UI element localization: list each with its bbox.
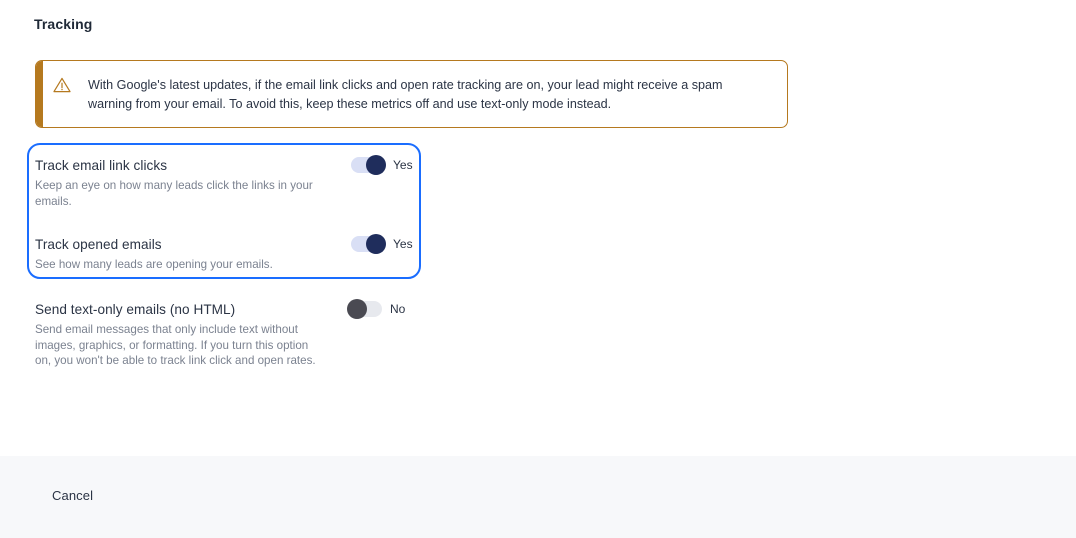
toggle-track-email-link-clicks[interactable]	[351, 157, 385, 173]
setting-track-opened-emails: Track opened emails See how many leads a…	[35, 235, 415, 273]
footer-bar: Cancel	[0, 456, 1076, 538]
toggle-value-label: Yes	[393, 236, 413, 252]
settings-page: Tracking With Google's latest updates, i…	[0, 0, 1076, 456]
setting-description: Keep an eye on how many leads click the …	[35, 178, 321, 209]
setting-track-email-link-clicks: Track email link clicks Keep an eye on h…	[35, 156, 415, 209]
toggle-track-opened-emails[interactable]	[351, 236, 385, 252]
warning-triangle-icon	[52, 75, 72, 95]
setting-control: No	[348, 301, 405, 317]
setting-description: Send email messages that only include te…	[35, 322, 325, 369]
page-title: Tracking	[34, 15, 92, 33]
toggle-value-label: No	[390, 301, 405, 317]
banner-accent-bar	[36, 61, 43, 127]
toggle-value-label: Yes	[393, 157, 413, 173]
toggle-knob	[366, 155, 386, 175]
setting-control: Yes	[351, 157, 413, 173]
setting-control: Yes	[351, 236, 413, 252]
toggle-knob	[366, 234, 386, 254]
setting-send-text-only-emails: Send text-only emails (no HTML) Send ema…	[35, 300, 407, 369]
setting-description: See how many leads are opening your emai…	[35, 257, 321, 273]
cancel-button[interactable]: Cancel	[52, 487, 93, 505]
toggle-knob	[347, 299, 367, 319]
banner-message: With Google's latest updates, if the ema…	[88, 76, 753, 114]
toggle-send-text-only-emails[interactable]	[348, 301, 382, 317]
